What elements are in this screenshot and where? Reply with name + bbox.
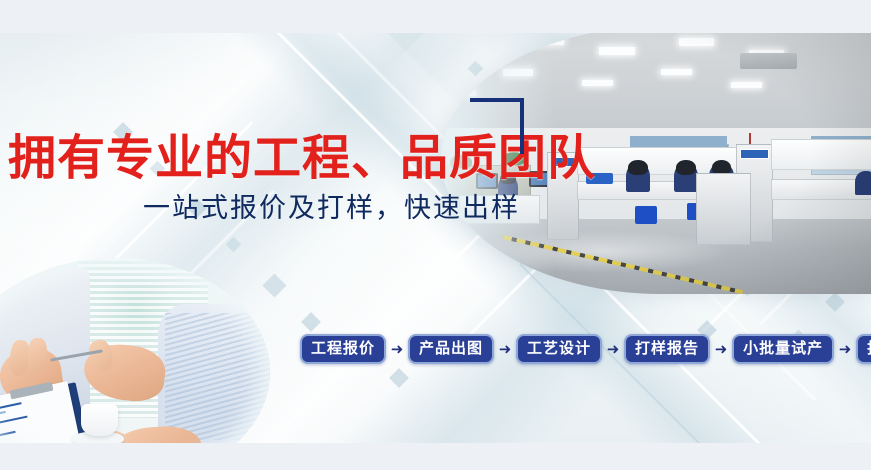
flow-arrow-icon: ➜ (712, 340, 730, 358)
flow-arrow-icon: ➜ (836, 340, 854, 358)
process-flow: 工程报价 ➜ 产品出图 ➜ 工艺设计 ➜ 打样报告 ➜ 小批量试产 ➜ 批量量产 (300, 334, 871, 364)
page-subtitle: 一站式报价及打样，快速出样 (143, 186, 520, 225)
process-step-4[interactable]: 打样报告 (624, 334, 710, 364)
top-strip (0, 0, 871, 33)
business-discussion-photo (0, 258, 270, 470)
process-step-3[interactable]: 工艺设计 (516, 334, 602, 364)
flow-arrow-icon: ➜ (388, 340, 406, 358)
flow-arrow-icon: ➜ (604, 340, 622, 358)
corner-bracket (470, 98, 524, 154)
process-step-5[interactable]: 小批量试产 (732, 334, 834, 364)
process-step-2[interactable]: 产品出图 (408, 334, 494, 364)
process-step-6[interactable]: 批量量产 (856, 334, 871, 364)
promo-banner: 拥有专业的工程、品质团队 一站式报价及打样，快速出样 工程报价 ➜ 产品出图 ➜… (0, 0, 871, 470)
bottom-strip (0, 443, 871, 470)
flow-arrow-icon: ➜ (496, 340, 514, 358)
process-step-1[interactable]: 工程报价 (300, 334, 386, 364)
